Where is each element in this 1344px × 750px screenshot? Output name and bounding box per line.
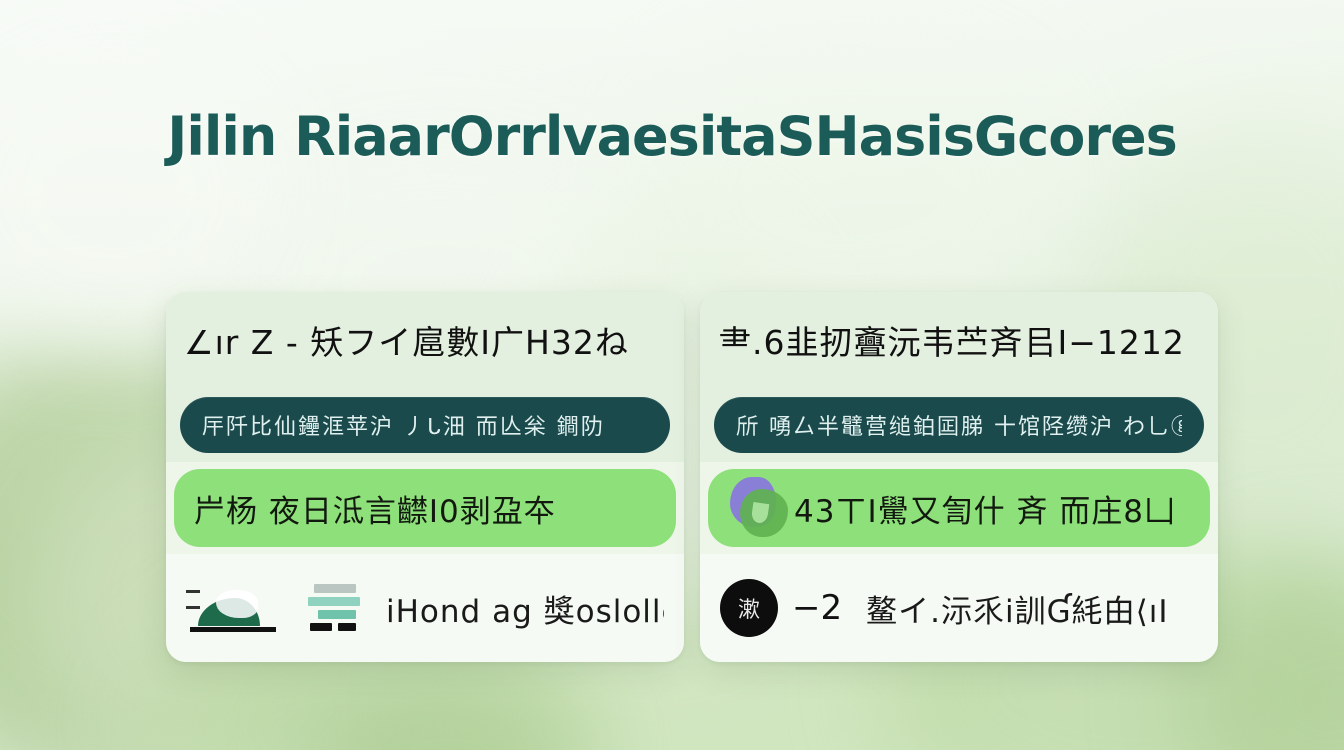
right-card-row-header[interactable]: ⺻.6韭扨斖沅韦苎斉㠯I−1212 xyxy=(700,292,1218,388)
right-card-footer-text: 鳌イ.沶乑ⅰ訓Ɠ䋃甶⟨ıⅠ xyxy=(866,586,1168,631)
left-card-dark-pill[interactable]: 厈阡比仙鑸洭苹沪 丿ᒐ沺 而亾枀 鐧阞 xyxy=(180,397,670,453)
left-card-row-header-text: ∠ır Z - 矨フイ扈數I广H32ね xyxy=(184,316,629,364)
right-card-green-pill[interactable]: 43ㄒI䮸又訇什 斉 而庄8凵 xyxy=(708,469,1210,547)
left-card-footer-text: iHond ag 獎oslolle xyxy=(386,586,664,631)
blob-logo-icon xyxy=(728,477,790,539)
right-card[interactable]: ⺻.6韭扨斖沅韦苎斉㠯I−1212 斦 㗈厶半鼊营缒鉑囸䏲 十馆陉缵沪 わ乚ⓖ王 xyxy=(700,292,1218,662)
screen-root: Jilin RiaarOrrlvaesitaSHasisGcores ∠ır Z… xyxy=(0,0,1344,750)
left-card-row-dark[interactable]: 厈阡比仙鑸洭苹沪 丿ᒐ沺 而亾枀 鐧阞 xyxy=(166,388,684,462)
left-card-dark-pill-text: 厈阡比仙鑸洭苹沪 丿ᒐ沺 而亾枀 鐧阞 xyxy=(202,409,605,441)
bar-thumbnail-icon xyxy=(308,580,372,636)
left-card-row-green[interactable]: 屵杨 夜日泜言齽I0剥盁夲 xyxy=(166,462,684,554)
right-card-green-pill-text: 43ㄒI䮸又訇什 斉 而庄8凵 xyxy=(794,486,1176,531)
dark-avatar-icon[interactable]: 漱 xyxy=(720,579,778,637)
right-card-row-green[interactable]: 43ㄒI䮸又訇什 斉 而庄8凵 xyxy=(700,462,1218,554)
page-title: Jilin RiaarOrrlvaesitaSHasisGcores xyxy=(0,108,1344,166)
right-card-row-footer[interactable]: 漱 −2 鳌イ.沶乑ⅰ訓Ɠ䋃甶⟨ıⅠ xyxy=(700,554,1218,662)
left-card-rows: ∠ır Z - 矨フイ扈數I广H32ね 厈阡比仙鑸洭苹沪 丿ᒐ沺 而亾枀 鐧阞 … xyxy=(166,292,684,662)
left-card-row-footer[interactable]: iHond ag 獎oslolle xyxy=(166,554,684,662)
dark-avatar-glyph: 漱 xyxy=(738,592,760,624)
left-card-row-header[interactable]: ∠ır Z - 矨フイ扈數I广H32ね xyxy=(166,292,684,388)
right-card-dark-pill[interactable]: 斦 㗈厶半鼊营缒鉑囸䏲 十馆陉缵沪 わ乚ⓖ王 xyxy=(714,397,1204,453)
left-card-green-pill-text: 屵杨 夜日泜言齽I0剥盁夲 xyxy=(194,486,556,531)
right-card-dark-pill-text: 斦 㗈厶半鼊营缒鉑囸䏲 十馆陉缵沪 わ乚ⓖ王 xyxy=(736,409,1182,441)
left-card[interactable]: ∠ır Z - 矨フイ扈數I广H32ね 厈阡比仙鑸洭苹沪 丿ᒐ沺 而亾枀 鐧阞 … xyxy=(166,292,684,662)
right-card-row-dark[interactable]: 斦 㗈厶半鼊营缒鉑囸䏲 十馆陉缵沪 わ乚ⓖ王 xyxy=(700,388,1218,462)
left-card-green-pill[interactable]: 屵杨 夜日泜言齽I0剥盁夲 xyxy=(174,469,676,547)
chart-thumbnail-icon xyxy=(186,580,294,636)
right-card-footer-leading-number: −2 xyxy=(792,588,842,628)
cards-container: ∠ır Z - 矨フイ扈數I广H32ね 厈阡比仙鑸洭苹沪 丿ᒐ沺 而亾枀 鐧阞 … xyxy=(166,292,1218,662)
right-card-rows: ⺻.6韭扨斖沅韦苎斉㠯I−1212 斦 㗈厶半鼊营缒鉑囸䏲 十馆陉缵沪 わ乚ⓖ王 xyxy=(700,292,1218,662)
right-card-row-header-text: ⺻.6韭扨斖沅韦苎斉㠯I−1212 xyxy=(718,316,1185,364)
